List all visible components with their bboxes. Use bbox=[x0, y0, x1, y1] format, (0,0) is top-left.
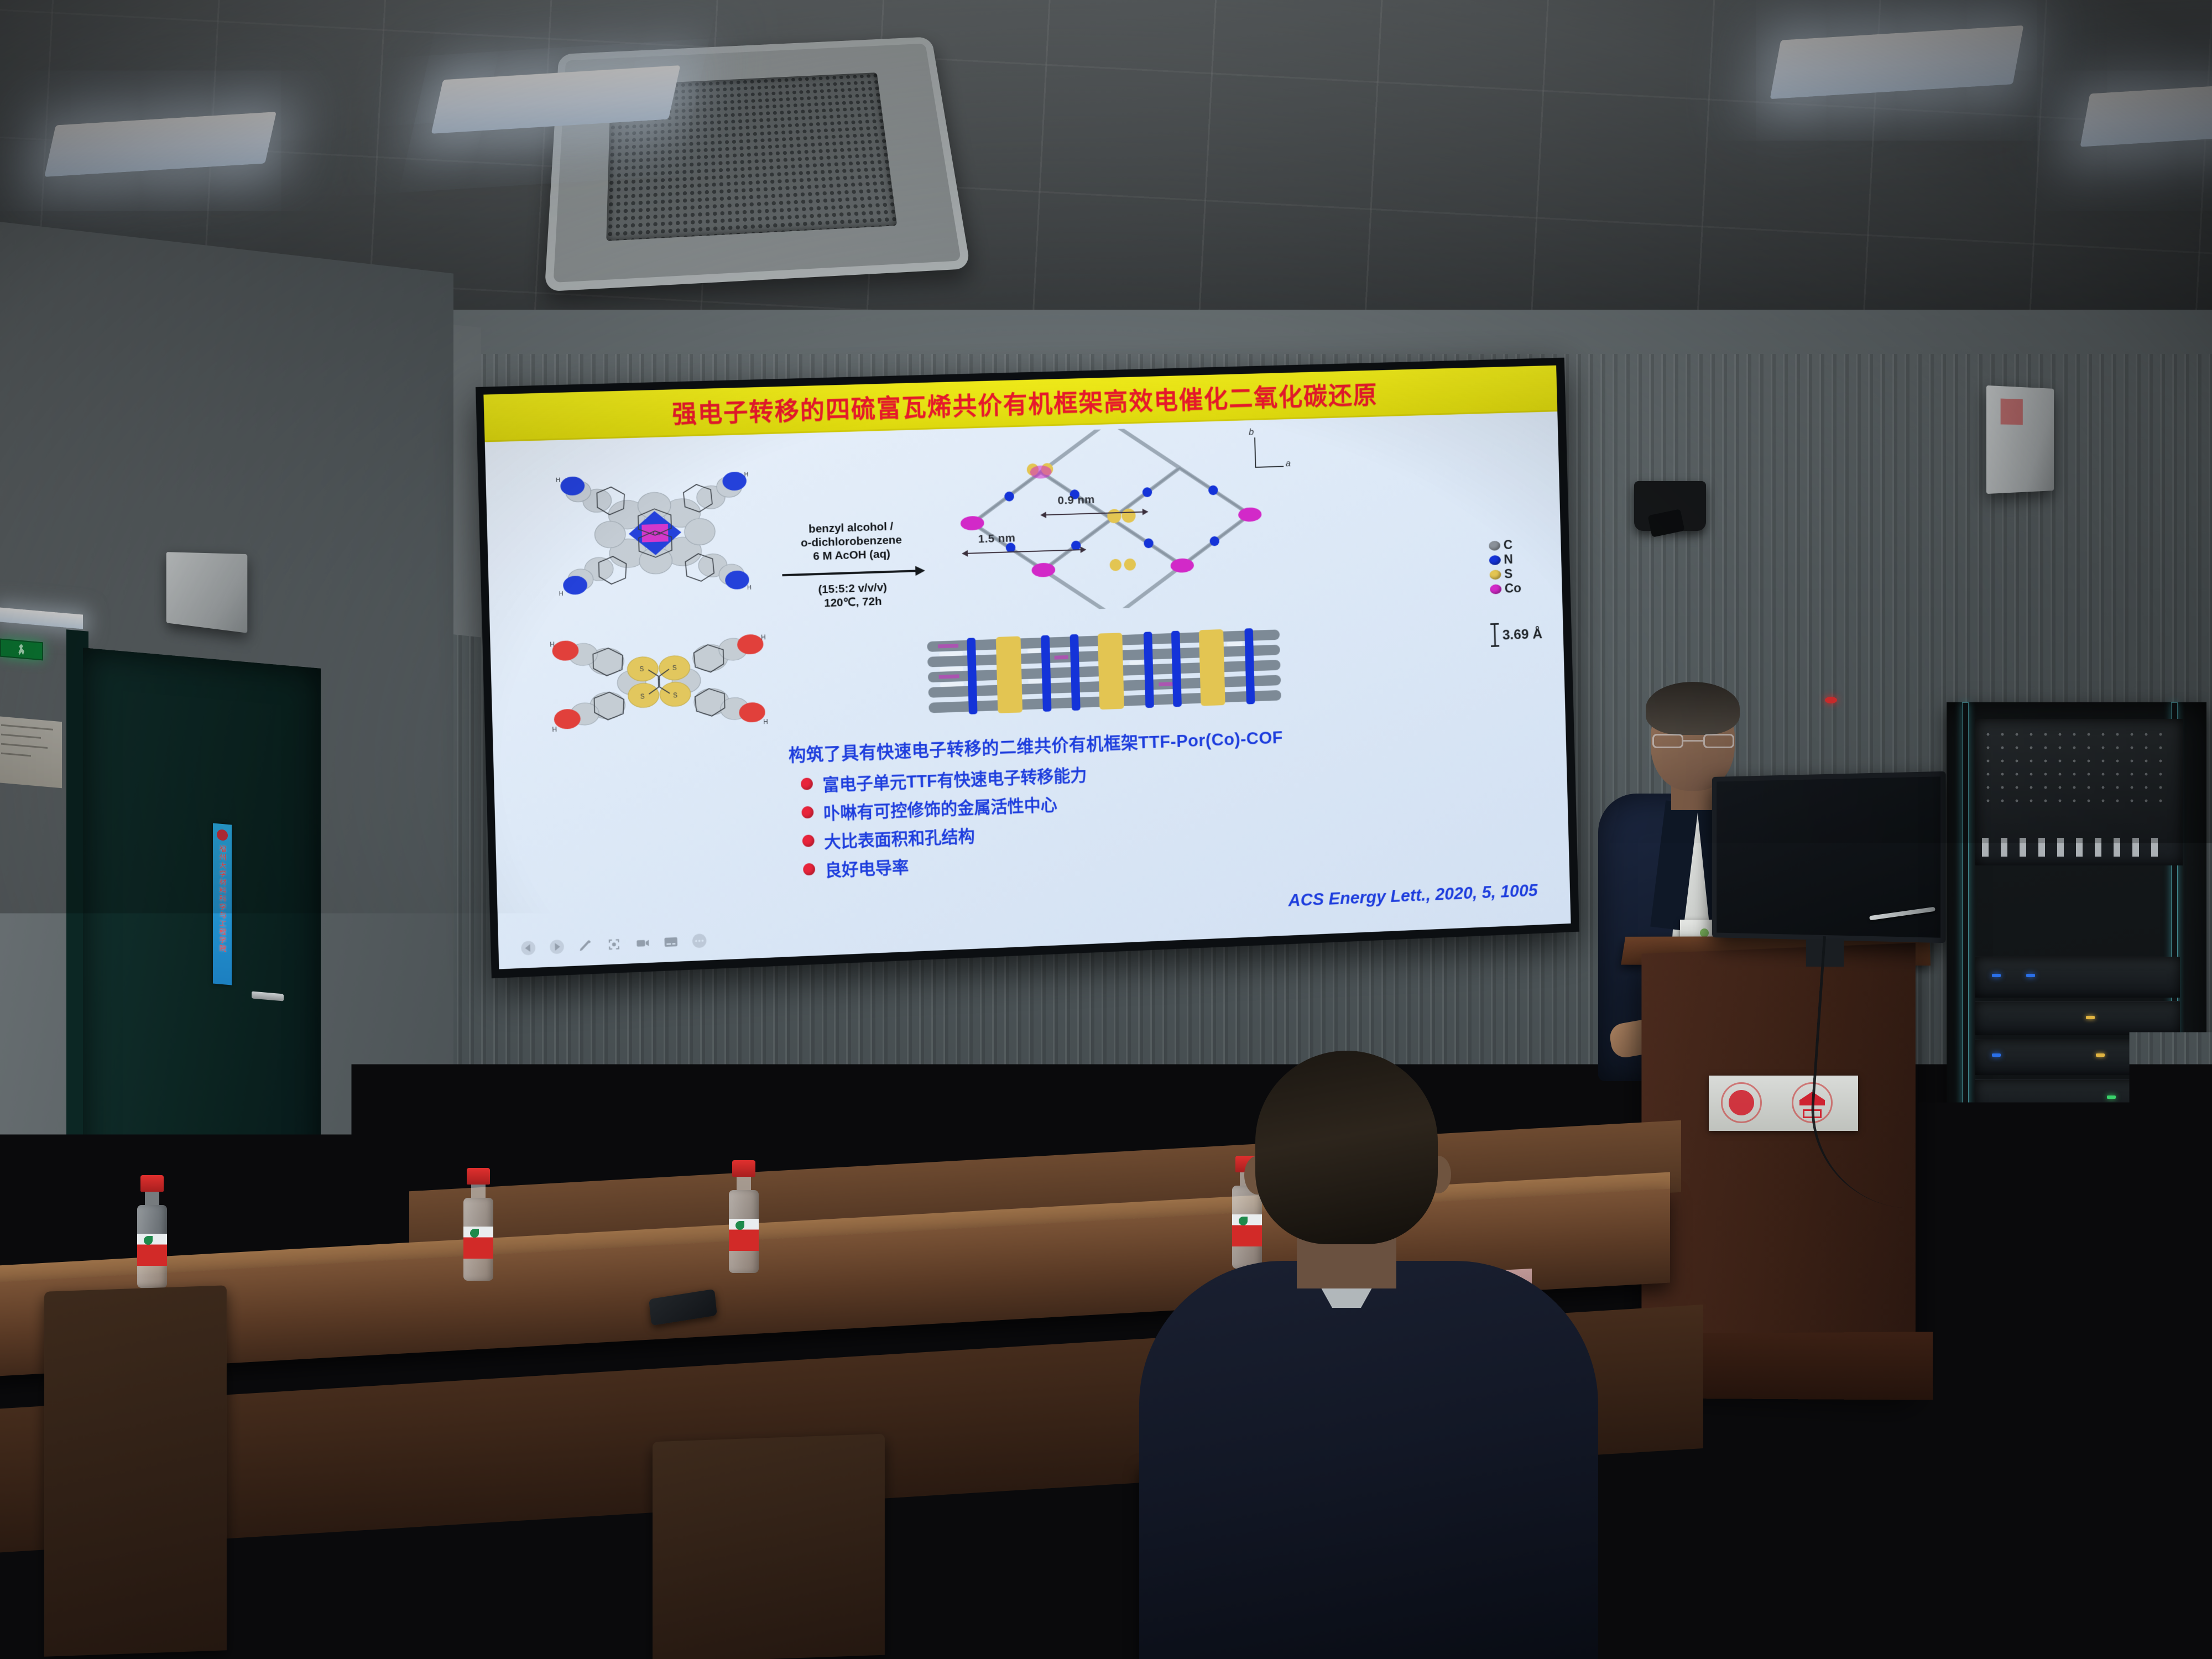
chair[interactable] bbox=[653, 1434, 885, 1659]
av-equipment-rack bbox=[1947, 702, 2206, 1344]
mixer-faders[interactable] bbox=[1982, 838, 2170, 857]
rack-rail-left bbox=[1962, 702, 1969, 1344]
running-man-icon bbox=[18, 644, 25, 655]
interlayer-spacing-label: 3.69 Å bbox=[1502, 625, 1542, 643]
ttf-tetraaldehyde-molecule: SS SS HH HH bbox=[540, 623, 778, 741]
powerpoint-toolbar[interactable] bbox=[520, 933, 707, 956]
audience-man-suit bbox=[1139, 1261, 1598, 1659]
exit-sign bbox=[0, 639, 43, 661]
legend-label: Co bbox=[1504, 581, 1521, 596]
svg-text:H: H bbox=[744, 471, 748, 478]
wall-speaker-left bbox=[166, 552, 248, 633]
presentation-slide[interactable]: 强电子转移的四硫富瓦烯共价有机框架高效电催化二氧化碳还原 bbox=[483, 366, 1571, 969]
legend-color-swatch bbox=[1489, 570, 1501, 580]
legend-label: S bbox=[1504, 566, 1513, 582]
cof-layer-stacking-view bbox=[927, 622, 1281, 716]
legend-label: N bbox=[1504, 552, 1513, 567]
rack-unit-network[interactable] bbox=[1975, 1079, 2180, 1116]
cobalt-porphyrin-molecule: CoHH HH bbox=[543, 453, 766, 614]
wall-speaker-right bbox=[1986, 385, 2054, 494]
legend-item: C bbox=[1489, 538, 1520, 553]
water-bottle[interactable] bbox=[729, 1160, 759, 1273]
bullet-dot-icon bbox=[803, 863, 815, 876]
power-indicator-led bbox=[1825, 697, 1837, 703]
citation: ACS Energy Lett., 2020, 5, 1005 bbox=[1288, 880, 1538, 911]
next-slide-icon[interactable] bbox=[549, 939, 565, 955]
pore-small-label: 0.9 nm bbox=[1057, 493, 1095, 508]
bullet-list: 富电子单元TTF有快速电子转移能力 卟啉有可控修饰的金属活性中心 大比表面积和孔… bbox=[801, 759, 1089, 884]
audience-member-man bbox=[1156, 1051, 1576, 1659]
legend-color-swatch bbox=[1489, 540, 1500, 550]
axis-label-b: b bbox=[1249, 427, 1254, 438]
svg-text:H: H bbox=[747, 585, 752, 591]
slide-title: 强电子转移的四硫富瓦烯共价有机框架高效电催化二氧化碳还原 bbox=[671, 375, 1378, 430]
audio-mixer[interactable] bbox=[1975, 719, 2183, 865]
bottle-cap bbox=[732, 1160, 755, 1177]
status-led-blue bbox=[1992, 1053, 2001, 1057]
audience-woman-hair bbox=[232, 1100, 442, 1537]
svg-text:S: S bbox=[640, 692, 645, 700]
status-led-amber bbox=[2086, 1016, 2095, 1019]
door-banner: 福州大学材料科学与工程学院 bbox=[213, 823, 232, 985]
pore-large-label: 1.5 nm bbox=[978, 531, 1016, 546]
atom-legend: C N S Co bbox=[1489, 538, 1521, 597]
legend-color-swatch bbox=[1489, 555, 1501, 565]
cof-framework-top-view bbox=[932, 425, 1279, 615]
reaction-arrow bbox=[779, 563, 925, 582]
svg-text:H: H bbox=[559, 591, 564, 597]
legend-item: Co bbox=[1490, 581, 1521, 596]
bullet-dot-icon bbox=[801, 806, 813, 819]
spacing-bracket-icon bbox=[1490, 623, 1499, 647]
status-led-blue bbox=[1992, 974, 2001, 977]
podium-monitor[interactable] bbox=[1712, 771, 1946, 943]
svg-text:S: S bbox=[639, 665, 644, 673]
bullet-text: 大比表面积和孔结构 bbox=[824, 822, 975, 852]
previous-slide-icon[interactable] bbox=[520, 940, 536, 956]
status-led-amber bbox=[2086, 1135, 2095, 1139]
interlayer-spacing: 3.69 Å bbox=[1490, 622, 1542, 647]
conference-room-scene: 福州大学材料科学与工程学院 强电子转移的四硫富瓦烯共价有机框架高效电催化二氧化碳… bbox=[0, 0, 2212, 1659]
university-seal-icon bbox=[217, 829, 228, 841]
pen-icon[interactable] bbox=[577, 937, 593, 953]
status-led-green bbox=[2107, 1095, 2116, 1099]
more-options-icon[interactable] bbox=[691, 933, 707, 949]
bottle-cap bbox=[140, 1175, 164, 1192]
presenter-hair bbox=[1646, 682, 1740, 735]
bullet-dot-icon bbox=[801, 778, 813, 790]
status-led-green bbox=[2114, 1135, 2122, 1139]
rack-unit-switcher[interactable] bbox=[1975, 1040, 2180, 1075]
video-icon[interactable] bbox=[635, 935, 650, 951]
audience-woman-glasses bbox=[397, 1265, 429, 1287]
status-led-amber bbox=[2096, 1053, 2105, 1057]
reaction-conditions: benzyl alcohol / o-dichlorobenzene 6 M A… bbox=[778, 519, 926, 612]
svg-text:H: H bbox=[556, 477, 560, 484]
subtitles-icon[interactable] bbox=[663, 934, 679, 950]
status-led-blue bbox=[2026, 974, 2035, 977]
svg-text:H: H bbox=[763, 718, 768, 726]
svg-text:Co: Co bbox=[653, 530, 660, 537]
rack-unit-amplifier[interactable] bbox=[1975, 957, 2180, 998]
svg-text:H: H bbox=[552, 726, 557, 733]
svg-text:H: H bbox=[761, 633, 766, 641]
legend-color-swatch bbox=[1490, 584, 1501, 594]
crystal-axes: b a bbox=[1243, 426, 1302, 479]
audience-man-head bbox=[1255, 1051, 1438, 1244]
mixer-knobs[interactable] bbox=[1981, 728, 2169, 811]
speaker-label bbox=[2001, 399, 2023, 425]
door-banner-text: 福州大学材料科学与工程学院 bbox=[217, 844, 228, 953]
zoom-slide-icon[interactable] bbox=[606, 936, 622, 952]
presenter-glasses bbox=[1652, 734, 1734, 749]
projection-screen[interactable]: 强电子转移的四硫富瓦烯共价有机框架高效电催化二氧化碳还原 bbox=[476, 358, 1579, 978]
axis-label-a: a bbox=[1286, 458, 1291, 469]
legend-item: N bbox=[1489, 552, 1521, 567]
water-bottle[interactable] bbox=[137, 1175, 167, 1288]
wall-camera bbox=[1634, 481, 1706, 531]
rack-unit-patchbay[interactable] bbox=[1975, 1120, 2180, 1157]
audience-member-woman bbox=[232, 1100, 542, 1659]
legend-item: S bbox=[1489, 566, 1521, 582]
svg-text:H: H bbox=[550, 640, 555, 648]
university-fu-logo-icon bbox=[1721, 1082, 1762, 1123]
bullet-dot-icon bbox=[802, 834, 815, 847]
bullet-text: 良好电导率 bbox=[825, 853, 909, 881]
wall-notice bbox=[0, 716, 62, 788]
rack-unit-processor[interactable] bbox=[1975, 1001, 2180, 1035]
svg-text:S: S bbox=[672, 664, 677, 672]
svg-text:S: S bbox=[673, 691, 677, 699]
legend-label: C bbox=[1503, 538, 1512, 553]
